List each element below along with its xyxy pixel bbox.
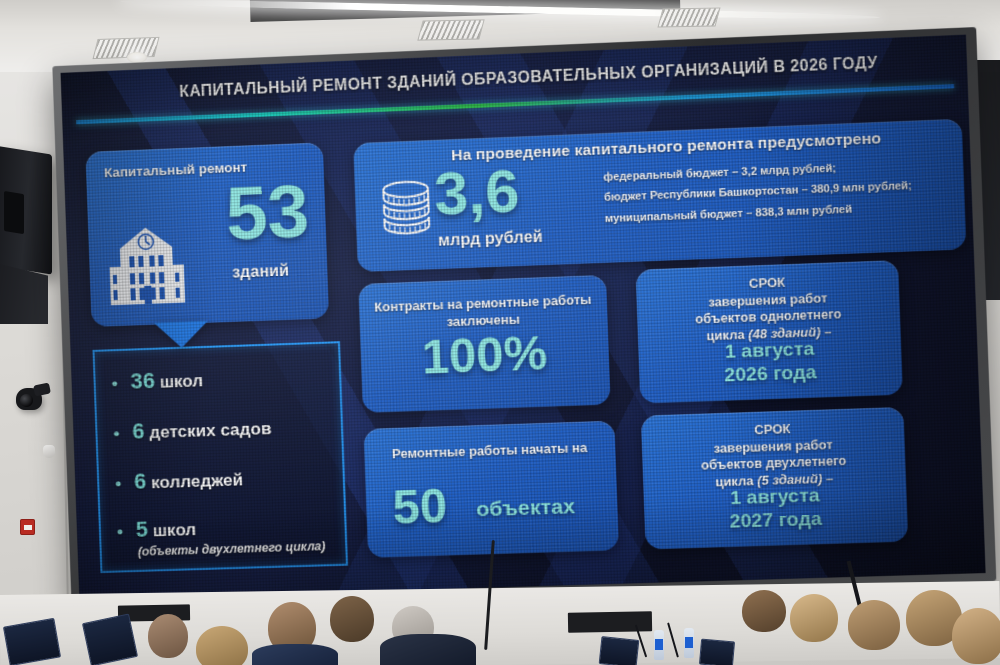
- bullet-dot: •: [117, 522, 124, 541]
- deadline-heading: СРОК завершения работ объектов двухлетне…: [649, 417, 898, 493]
- meeting-participants: [0, 590, 1000, 665]
- screen-surface: КАПИТАЛЬНЫЙ РЕМОНТ ЗДАНИЙ ОБРАЗОВАТЕЛЬНЫ…: [61, 35, 986, 600]
- list-item-number: 5: [135, 516, 148, 541]
- deadline-date: 1 августа 2027 года: [652, 483, 900, 537]
- card-heading: Контракты на ремонтные работы заключены: [359, 291, 608, 333]
- ceiling-air-vent: [657, 7, 720, 27]
- deadline-line-4-suffix: –: [822, 472, 833, 487]
- list-item: • 6 детских садов: [113, 414, 272, 445]
- list-item-label: школ: [152, 520, 196, 540]
- list-item-number: 6: [132, 418, 145, 443]
- participant-head: [742, 590, 786, 632]
- conference-table: [0, 649, 1000, 665]
- list-item: • 6 колледжей: [115, 465, 244, 495]
- card-capital-repair-buildings: Капитальный ремонт: [85, 142, 329, 327]
- list-item-number: 36: [130, 368, 155, 394]
- card-contracts: Контракты на ремонтные работы заключены …: [358, 275, 610, 413]
- card-deadline-one-year-cycle: СРОК завершения работ объектов однолетне…: [636, 260, 903, 403]
- led-video-wall: КАПИТАЛЬНЫЙ РЕМОНТ ЗДАНИЙ ОБРАЗОВАТЕЛЬНЫ…: [52, 27, 996, 608]
- deadline-line-3: объектов двухлетнего: [701, 454, 847, 473]
- budget-breakdown-list: федеральный бюджет – 3,2 млрд рублей; бю…: [603, 158, 953, 233]
- page-title: КАПИТАЛЬНЫЙ РЕМОНТ ЗДАНИЙ ОБРАЗОВАТЕЛЬНЫ…: [117, 52, 942, 105]
- list-item-label: школ: [159, 371, 203, 392]
- card-works-started: Ремонтные работы начаты на 50 объектах: [363, 421, 619, 558]
- coins-stack-icon: [375, 178, 438, 243]
- conference-room-scene: КАПИТАЛЬНЫЙ РЕМОНТ ЗДАНИЙ ОБРАЗОВАТЕЛЬНЫ…: [0, 0, 1000, 665]
- deadline-date-day: 1 августа: [724, 339, 814, 363]
- list-item: • 5 школ: [117, 515, 197, 544]
- bullet-dot: •: [115, 474, 122, 493]
- list-item-label: колледжей: [151, 470, 244, 492]
- school-building-icon: [102, 224, 191, 311]
- card-heading: Ремонтные работы начаты на: [364, 439, 615, 464]
- card-budget: На проведение капитального ремонта преду…: [353, 119, 966, 272]
- breakdown-note: (объекты двухлетнего цикла): [138, 539, 326, 559]
- list-item-number: 6: [134, 468, 147, 493]
- deadline-line-2: завершения работ: [713, 438, 832, 456]
- deadline-line-2: завершения работ: [708, 291, 827, 310]
- presentation-slide: КАПИТАЛЬНЫЙ РЕМОНТ ЗДАНИЙ ОБРАЗОВАТЕЛЬНЫ…: [61, 35, 986, 600]
- budget-value: 3,6: [433, 163, 520, 222]
- participant-head: [330, 596, 374, 642]
- bullet-dot: •: [111, 374, 118, 393]
- budget-unit: млрд рублей: [438, 229, 543, 251]
- started-unit: объектах: [476, 495, 576, 522]
- pointer-triangle-icon: [154, 321, 209, 349]
- wall-speaker: [0, 145, 52, 274]
- buildings-count: 53: [225, 177, 310, 249]
- deadline-date-year: 2027 года: [729, 509, 822, 533]
- list-item-label: детских садов: [149, 419, 272, 442]
- deadline-line-1: СРОК: [754, 422, 791, 437]
- deadline-date-day: 1 августа: [730, 486, 820, 510]
- buildings-unit: зданий: [232, 262, 289, 282]
- participant-head: [848, 600, 900, 650]
- list-item: • 36 школ: [111, 366, 203, 395]
- card-deadline-two-year-cycle: СРОК завершения работ объектов двухлетне…: [641, 407, 908, 550]
- deadline-line-4-suffix: –: [820, 325, 831, 340]
- breakdown-panel: • 36 школ • 6 детских садов • 6 колл: [92, 341, 348, 573]
- started-count: 50: [392, 485, 448, 531]
- deadline-date: 1 августа 2026 года: [646, 336, 894, 391]
- fire-alarm-pull-station: [20, 519, 35, 535]
- ceiling-air-vent: [93, 37, 160, 59]
- bullet-dot: •: [113, 424, 120, 443]
- deadline-line-3: объектов однолетнего: [695, 308, 842, 327]
- deadline-heading: СРОК завершения работ объектов однолетне…: [644, 271, 892, 348]
- ceiling-air-vent: [417, 19, 484, 40]
- deadline-date-year: 2026 года: [724, 362, 817, 387]
- contracts-percent: 100%: [360, 330, 609, 383]
- screen-bezel: КАПИТАЛЬНЫЙ РЕМОНТ ЗДАНИЙ ОБРАЗОВАТЕЛЬНЫ…: [52, 27, 996, 608]
- security-camera-icon: [16, 388, 42, 410]
- participant-head: [790, 594, 838, 642]
- deadline-line-1: СРОК: [749, 275, 785, 291]
- motion-sensor: [43, 445, 55, 458]
